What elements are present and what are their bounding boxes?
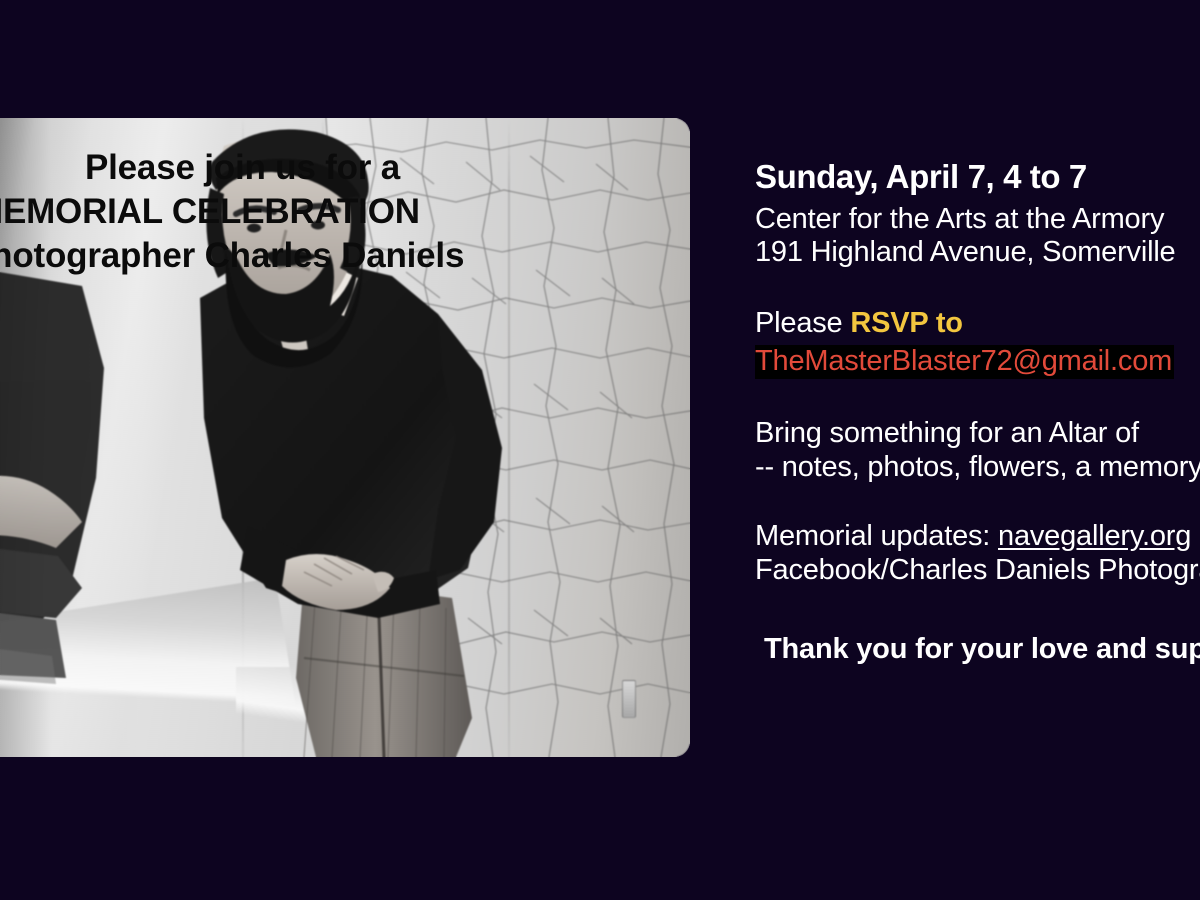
rsvp-email-link[interactable]: TheMasterBlaster72@gmail.com [755,345,1174,379]
event-venue: Center for the Arts at the Armory [755,205,1200,234]
door-strike-plate [622,680,636,718]
event-address: 191 Highland Avenue, Somerville [755,238,1200,267]
updates-label: Memorial updates: [755,520,990,552]
rsvp-prefix: Please [755,307,842,339]
updates-line-2: Facebook/Charles Daniels Photography [755,556,1200,585]
altar-line-1: Bring something for an Altar of [755,419,1200,448]
updates-line-1: Memorial updates: navegallery.org [755,522,1200,551]
rsvp-highlight: RSVP to [850,307,962,339]
rsvp-email-line: TheMasterBlaster72@gmail.com [755,345,1200,379]
poster-canvas: Please join us for a MEMORIAL CELEBRATIO… [0,0,1200,900]
closing-message: Thank you for your love and support [764,635,1200,664]
rsvp-instruction: Please RSVP to [755,309,1200,338]
invitation-details: Sunday, April 7, 4 to 7 Center for the A… [755,160,1200,664]
overlay-line-2: MEMORIAL CELEBRATION [0,190,690,234]
overlay-line-3: photographer Charles Daniels [0,234,690,278]
event-datetime: Sunday, April 7, 4 to 7 [755,160,1200,193]
overlay-line-1: Please join us for a [0,146,690,190]
altar-line-2: -- notes, photos, flowers, a memory [755,453,1200,482]
updates-block: Memorial updates: navegallery.org Facebo… [755,522,1200,585]
poster-overlay-headline: Please join us for a MEMORIAL CELEBRATIO… [0,146,690,278]
navegallery-link[interactable]: navegallery.org [998,520,1191,552]
altar-block: Bring something for an Altar of -- notes… [755,419,1200,482]
rsvp-block: Please RSVP to TheMasterBlaster72@gmail.… [755,309,1200,379]
photo-card: Please join us for a MEMORIAL CELEBRATIO… [0,118,690,757]
